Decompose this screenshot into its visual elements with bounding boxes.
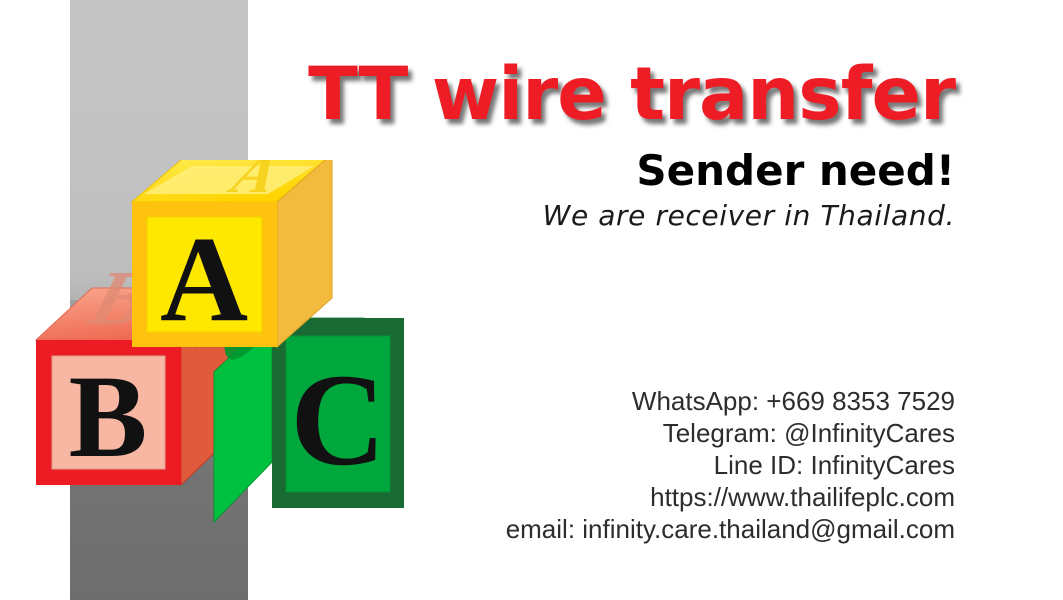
tagline: We are receiver in Thailand.	[270, 202, 955, 230]
page-title: TT wire transfer	[270, 58, 955, 131]
contact-line-id: Line ID: InfinityCares	[270, 449, 955, 481]
svg-text:B: B	[69, 351, 148, 482]
text-column: TT wire transfer Sender need! We are rec…	[270, 0, 955, 600]
subheading: Sender need!	[270, 150, 955, 192]
contact-email[interactable]: email: infinity.care.thailand@gmail.com	[270, 513, 955, 545]
contact-block: WhatsApp: +669 8353 7529 Telegram: @Infi…	[270, 385, 955, 545]
svg-text:A: A	[160, 212, 248, 347]
contact-website[interactable]: https://www.thailifeplc.com	[270, 481, 955, 513]
contact-telegram: Telegram: @InfinityCares	[270, 417, 955, 449]
business-card-canvas: B B B C C	[0, 0, 1063, 600]
contact-whatsapp: WhatsApp: +669 8353 7529	[270, 385, 955, 417]
